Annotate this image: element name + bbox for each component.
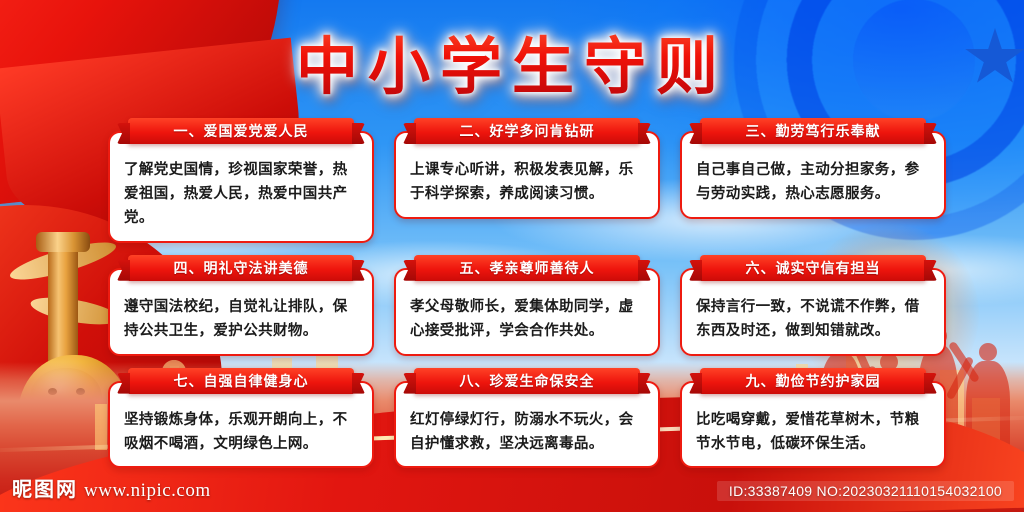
rule-body-text: 上课专心听讲，积极发表见解，乐于科学探索，养成阅读习惯。	[410, 159, 644, 207]
rule-body-panel: 上课专心听讲，积极发表见解，乐于科学探索，养成阅读习惯。	[394, 131, 660, 219]
rule-heading-ribbon: 二、好学多问肯钻研	[414, 118, 640, 144]
rule-card: 五、孝亲尊师善待人 孝父母敬师长，爱集体助同学，虚心接受批评，学会合作共处。	[394, 255, 660, 356]
rule-heading-ribbon: 八、珍爱生命保安全	[414, 368, 640, 394]
rule-body-text: 比吃喝穿戴，爱惜花草树木，节粮节水节电，低碳环保生活。	[696, 409, 930, 457]
rule-heading-ribbon: 一、爱国爱党爱人民	[128, 118, 354, 144]
asset-id-badge: ID:33387409 NO:20230321110154032100	[717, 481, 1014, 501]
poster-canvas: 中小学生守则 一、爱国爱党爱人民 了解党史国情，珍视国家荣誉，热爱祖国，热爱人民…	[0, 0, 1024, 512]
rule-heading-ribbon: 九、勤俭节约护家园	[700, 368, 926, 394]
rule-card: 七、自强自律健身心 坚持锻炼身体，乐观开朗向上，不吸烟不喝酒，文明绿色上网。	[108, 368, 374, 469]
watermark: 昵图网 www.nipic.com	[12, 473, 211, 502]
rule-body-panel: 坚持锻炼身体，乐观开朗向上，不吸烟不喝酒，文明绿色上网。	[108, 381, 374, 469]
rule-heading-text: 六、诚实守信有担当	[746, 258, 881, 278]
rule-body-text: 孝父母敬师长，爱集体助同学，虚心接受批评，学会合作共处。	[410, 296, 644, 344]
rule-body-text: 了解党史国情，珍视国家荣誉，热爱祖国，热爱人民，热爱中国共产党。	[124, 159, 358, 231]
rule-heading-ribbon: 六、诚实守信有担当	[700, 255, 926, 281]
huabiao-cap-icon	[36, 232, 90, 252]
rule-card: 四、明礼守法讲美德 遵守国法校纪，自觉礼让排队，保持公共卫生，爱护公共财物。	[108, 255, 374, 356]
rule-body-panel: 孝父母敬师长，爱集体助同学，虚心接受批评，学会合作共处。	[394, 268, 660, 356]
rule-card: 二、好学多问肯钻研 上课专心听讲，积极发表见解，乐于科学探索，养成阅读习惯。	[394, 118, 660, 243]
page-title: 中小学生守则	[0, 16, 1024, 106]
rule-heading-text: 三、勤劳笃行乐奉献	[746, 121, 881, 141]
rule-card: 一、爱国爱党爱人民 了解党史国情，珍视国家荣誉，热爱祖国，热爱人民，热爱中国共产…	[108, 118, 374, 243]
rule-body-panel: 红灯停绿灯行，防溺水不玩火，会自护懂求救，坚决远离毒品。	[394, 381, 660, 469]
rule-heading-text: 五、孝亲尊师善待人	[460, 258, 595, 278]
rule-card: 六、诚实守信有担当 保持言行一致，不说谎不作弊，借东西及时还，做到知错就改。	[680, 255, 946, 356]
rule-heading-text: 九、勤俭节约护家园	[746, 371, 881, 391]
rule-heading-text: 二、好学多问肯钻研	[460, 121, 595, 141]
rule-body-text: 坚持锻炼身体，乐观开朗向上，不吸烟不喝酒，文明绿色上网。	[124, 409, 358, 457]
rule-heading-ribbon: 五、孝亲尊师善待人	[414, 255, 640, 281]
rule-body-panel: 自己事自己做，主动分担家务，参与劳动实践，热心志愿服务。	[680, 131, 946, 219]
rule-heading-text: 四、明礼守法讲美德	[174, 258, 309, 278]
rule-body-text: 遵守国法校纪，自觉礼让排队，保持公共卫生，爱护公共财物。	[124, 296, 358, 344]
rule-card: 九、勤俭节约护家园 比吃喝穿戴，爱惜花草树木，节粮节水节电，低碳环保生活。	[680, 368, 946, 469]
rule-body-text: 红灯停绿灯行，防溺水不玩火，会自护懂求救，坚决远离毒品。	[410, 409, 644, 457]
rule-body-text: 保持言行一致，不说谎不作弊，借东西及时还，做到知错就改。	[696, 296, 930, 344]
watermark-site-url: www.nipic.com	[84, 480, 211, 502]
watermark-site-name: 昵图网	[12, 473, 78, 502]
rule-heading-ribbon: 三、勤劳笃行乐奉献	[700, 118, 926, 144]
rule-card: 八、珍爱生命保安全 红灯停绿灯行，防溺水不玩火，会自护懂求救，坚决远离毒品。	[394, 368, 660, 469]
rule-heading-ribbon: 四、明礼守法讲美德	[128, 255, 354, 281]
rule-body-panel: 了解党史国情，珍视国家荣誉，热爱祖国，热爱人民，热爱中国共产党。	[108, 131, 374, 243]
rule-heading-text: 一、爱国爱党爱人民	[174, 121, 309, 141]
rule-heading-ribbon: 七、自强自律健身心	[128, 368, 354, 394]
rule-card: 三、勤劳笃行乐奉献 自己事自己做，主动分担家务，参与劳动实践，热心志愿服务。	[680, 118, 946, 243]
rule-body-panel: 保持言行一致，不说谎不作弊，借东西及时还，做到知错就改。	[680, 268, 946, 356]
rule-body-panel: 遵守国法校纪，自觉礼让排队，保持公共卫生，爱护公共财物。	[108, 268, 374, 356]
rule-heading-text: 八、珍爱生命保安全	[460, 371, 595, 391]
rules-grid: 一、爱国爱党爱人民 了解党史国情，珍视国家荣誉，热爱祖国，热爱人民，热爱中国共产…	[108, 118, 946, 468]
rule-body-panel: 比吃喝穿戴，爱惜花草树木，节粮节水节电，低碳环保生活。	[680, 381, 946, 469]
rule-body-text: 自己事自己做，主动分担家务，参与劳动实践，热心志愿服务。	[696, 159, 930, 207]
rule-heading-text: 七、自强自律健身心	[174, 371, 309, 391]
